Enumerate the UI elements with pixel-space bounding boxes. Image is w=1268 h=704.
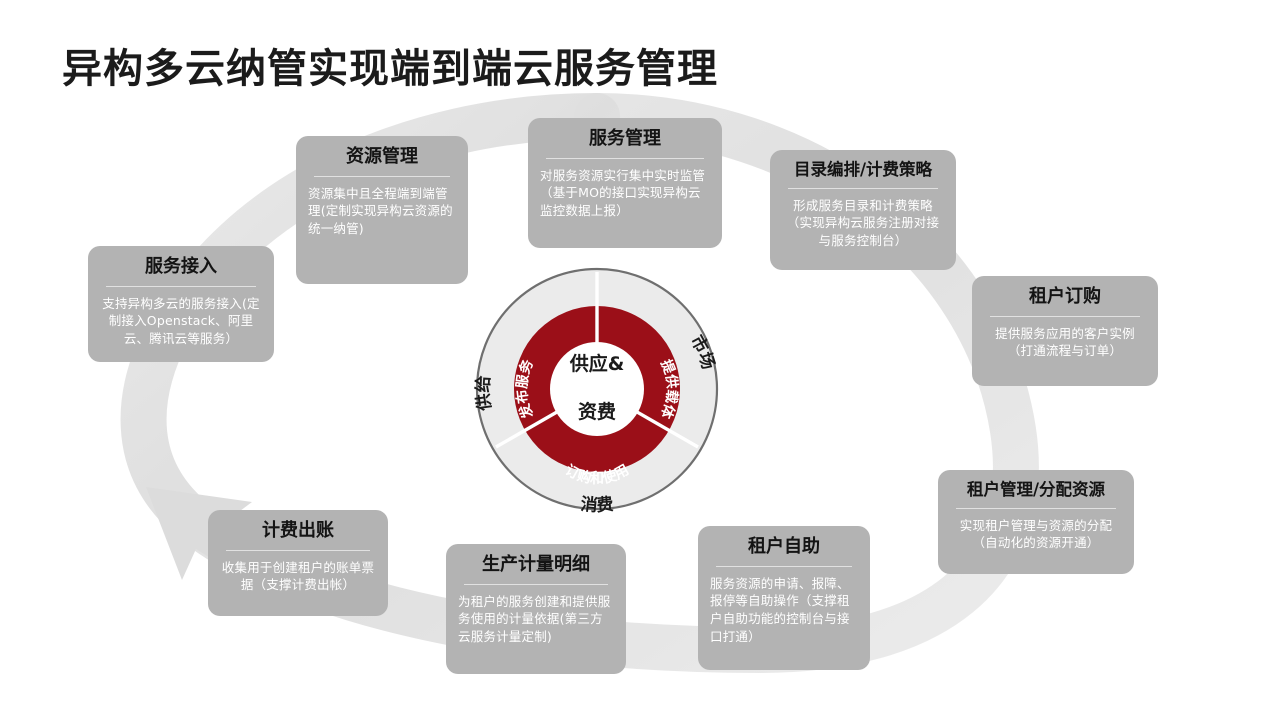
- card-tenant-self-service[interactable]: 租户自助 服务资源的申请、报障、报停等自助操作（支撑租户自助功能的控制台与接口打…: [698, 526, 870, 670]
- card-divider: [546, 158, 704, 159]
- card-title: 服务接入: [100, 256, 262, 279]
- card-resource-management[interactable]: 资源管理 资源集中且全程端到端管理(定制实现异构云资源的统一纳管): [296, 136, 468, 284]
- card-title: 租户管理/分配资源: [950, 480, 1122, 501]
- card-body: 资源集中且全程端到端管理(定制实现异构云资源的统一纳管): [308, 185, 456, 238]
- card-tenant-management-resource-allocation[interactable]: 租户管理/分配资源 实现租户管理与资源的分配（自动化的资源开通）: [938, 470, 1134, 574]
- card-divider: [106, 286, 256, 287]
- card-divider: [788, 188, 938, 189]
- card-title: 计费出账: [220, 520, 376, 543]
- card-title: 服务管理: [540, 128, 710, 151]
- card-body: 服务资源的申请、报障、报停等自助操作（支撑租户自助功能的控制台与接口打通）: [710, 575, 858, 646]
- card-title: 生产计量明细: [458, 554, 614, 577]
- card-tenant-subscription[interactable]: 租户订购 提供服务应用的客户实例（打通流程与订单）: [972, 276, 1158, 386]
- card-divider: [314, 176, 450, 177]
- donut-outer-label-consume: 消费: [580, 494, 615, 516]
- card-body: 支持异构多云的服务接入(定制接入Openstack、阿里云、腾讯云等服务）: [100, 295, 262, 348]
- card-body: 实现租户管理与资源的分配（自动化的资源开通）: [950, 517, 1122, 553]
- cycle-donut-chart: 供给 市场 消费 发布服务 提供载体 订购和使用: [470, 262, 724, 516]
- card-title: 目录编排/计费策略: [782, 160, 944, 181]
- donut-outer-label-supply: 供给: [472, 375, 495, 413]
- card-production-metering-detail[interactable]: 生产计量明细 为租户的服务创建和提供服务使用的计量依据(第三方云服务计量定制): [446, 544, 626, 674]
- card-body: 为租户的服务创建和提供服务使用的计量依据(第三方云服务计量定制): [458, 593, 614, 646]
- card-body: 收集用于创建租户的账单票据（支撑计费出帐）: [220, 559, 376, 595]
- card-title: 资源管理: [308, 146, 456, 169]
- card-billing-statement[interactable]: 计费出账 收集用于创建租户的账单票据（支撑计费出帐）: [208, 510, 388, 616]
- card-body: 提供服务应用的客户实例（打通流程与订单）: [984, 325, 1146, 361]
- card-catalog-orchestration-billing-policy[interactable]: 目录编排/计费策略 形成服务目录和计费策略（实现异构云服务注册对接与服务控制台）: [770, 150, 956, 270]
- card-title: 租户自助: [710, 536, 858, 559]
- card-divider: [716, 566, 852, 567]
- card-divider: [226, 550, 370, 551]
- card-divider: [990, 316, 1140, 317]
- card-service-access[interactable]: 服务接入 支持异构多云的服务接入(定制接入Openstack、阿里云、腾讯云等服…: [88, 246, 274, 362]
- card-service-management[interactable]: 服务管理 对服务资源实行集中实时监管（基于MO的接口实现异构云监控数据上报）: [528, 118, 722, 248]
- slide-canvas: 异构多云纳管实现端到端云服务管理 供给 市场: [0, 0, 1268, 704]
- card-divider: [956, 508, 1116, 509]
- card-body: 对服务资源实行集中实时监管（基于MO的接口实现异构云监控数据上报）: [540, 167, 710, 220]
- card-title: 租户订购: [984, 286, 1146, 309]
- card-divider: [464, 584, 608, 585]
- card-body: 形成服务目录和计费策略（实现异构云服务注册对接与服务控制台）: [782, 197, 944, 250]
- page-title: 异构多云纳管实现端到端云服务管理: [62, 36, 718, 94]
